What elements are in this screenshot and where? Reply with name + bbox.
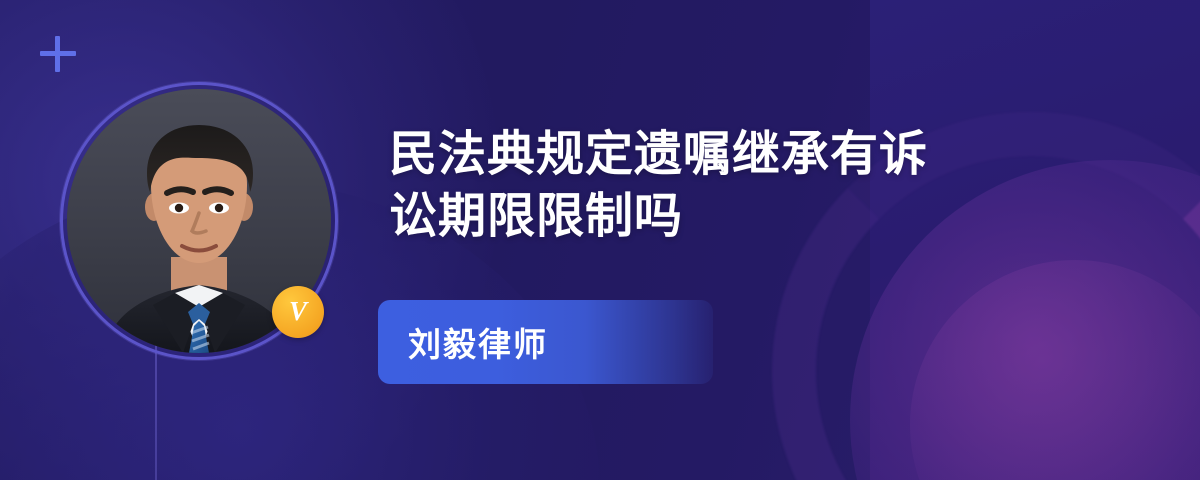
plus-icon xyxy=(40,36,76,72)
banner-card: V 民法典规定遗嘱继承有诉 讼期限限制吗 刘毅律师 xyxy=(0,0,1200,480)
author-name-chip: 刘毅律师 xyxy=(378,300,713,384)
headline-line-1: 民法典规定遗嘱继承有诉 xyxy=(389,124,1089,186)
avatar: V xyxy=(60,82,338,360)
page-title: 民法典规定遗嘱继承有诉 讼期限限制吗 xyxy=(389,124,1089,249)
author-name-label: 刘毅律师 xyxy=(408,318,548,366)
verified-badge-label: V xyxy=(289,298,307,325)
headline-line-2: 讼期限限制吗 xyxy=(389,186,1089,248)
verified-badge-icon: V xyxy=(272,286,324,338)
